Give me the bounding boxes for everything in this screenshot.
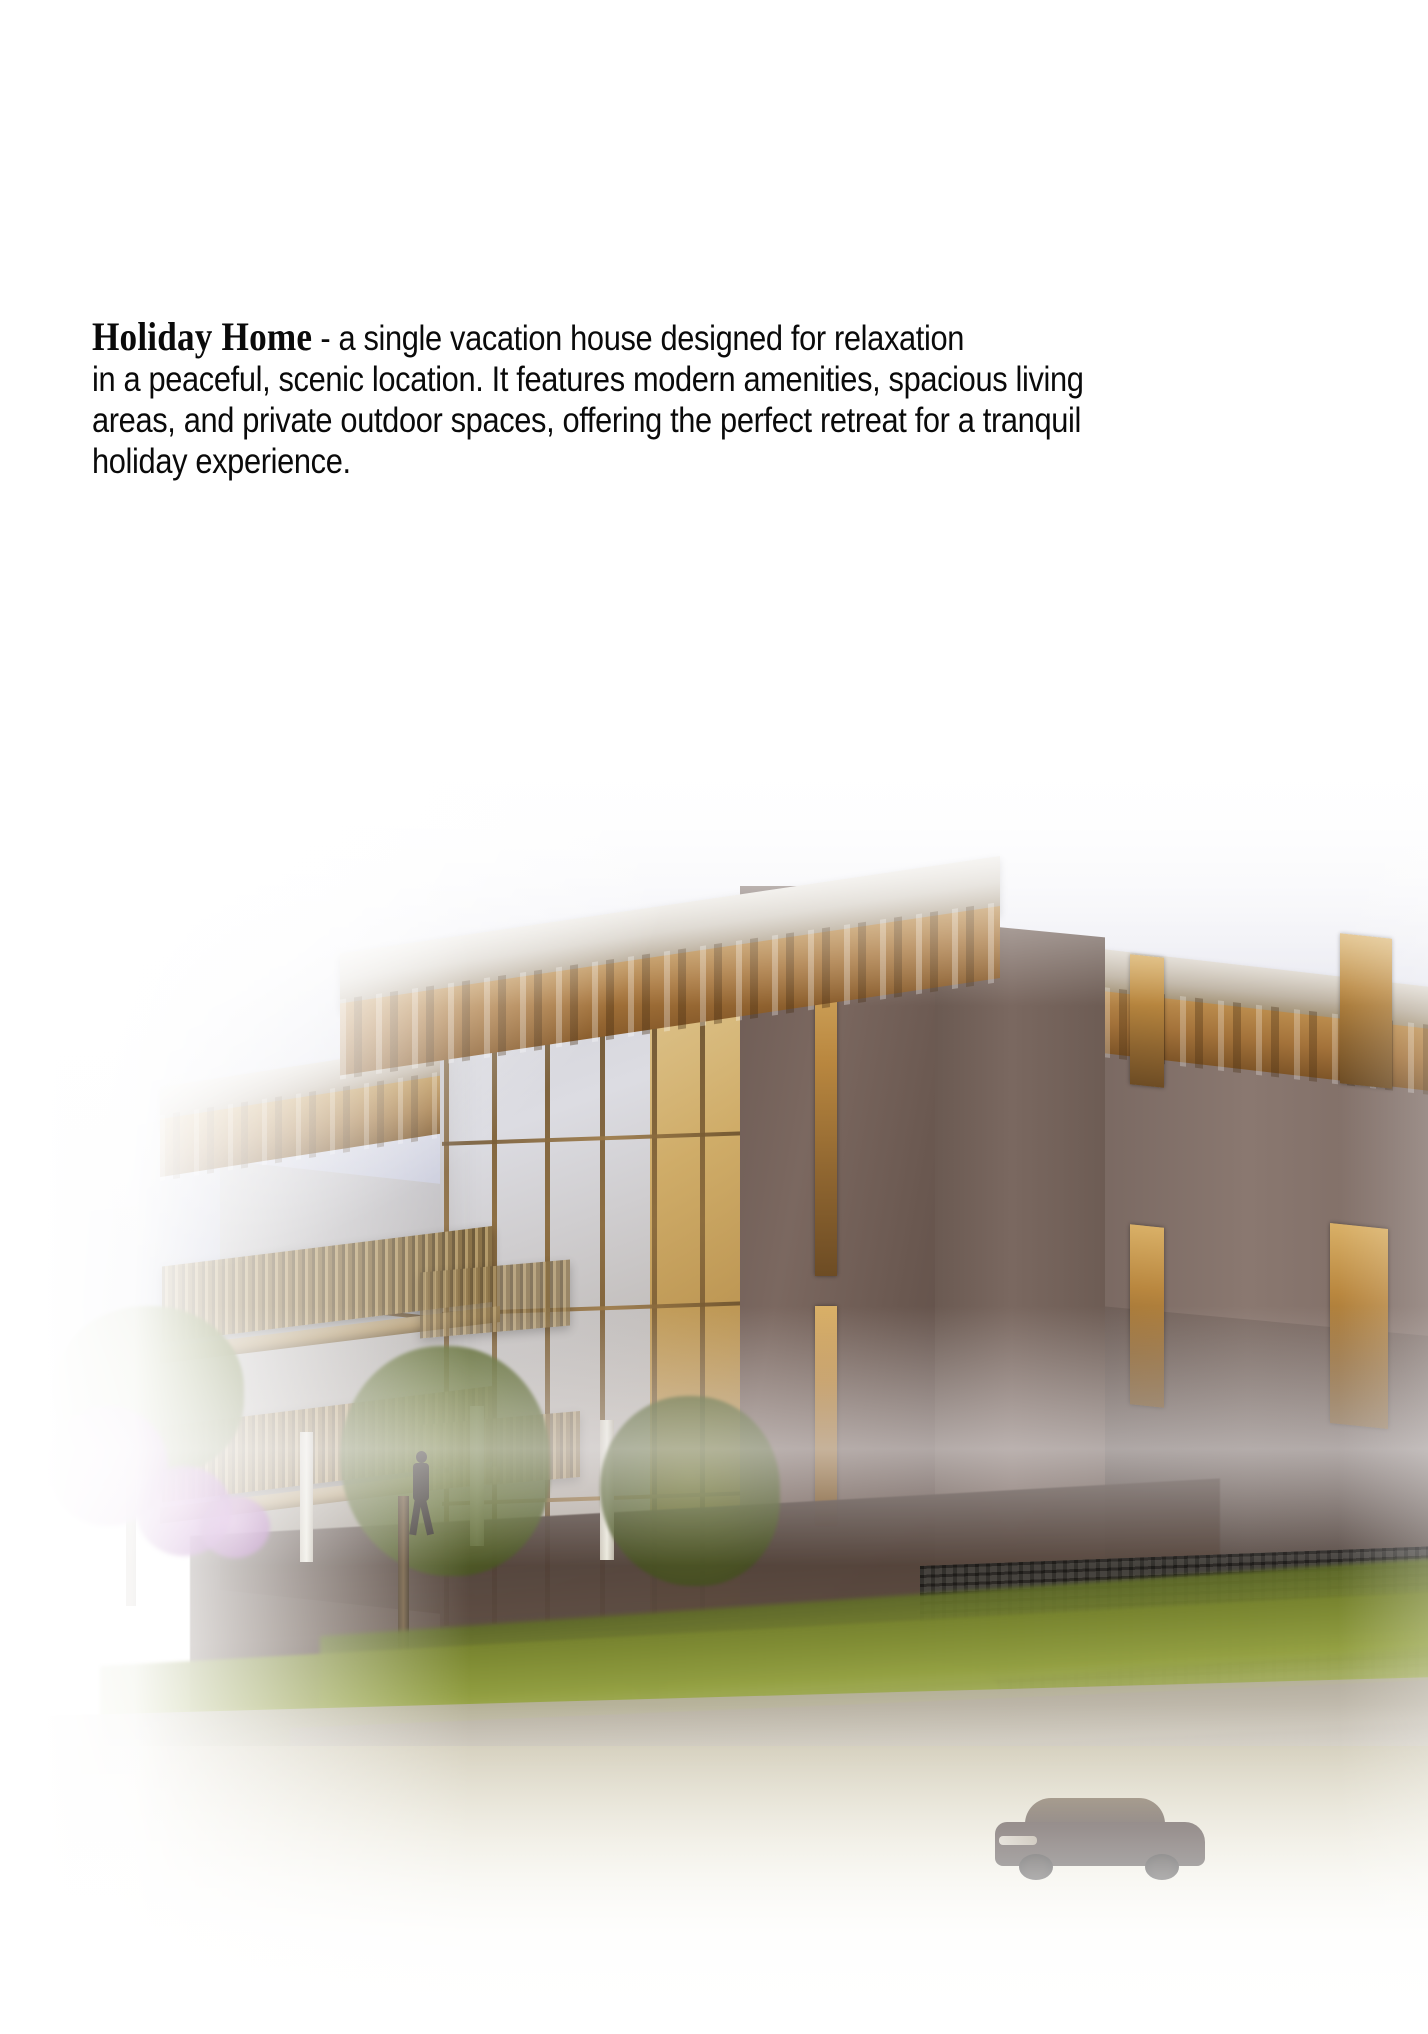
fade-bottom [40, 1704, 1428, 2034]
description-block: Holiday Home - a single vacation house d… [92, 316, 1428, 482]
render-canvas [40, 706, 1428, 2034]
fade-corner [40, 706, 680, 1266]
page-title: Holiday Home [92, 316, 312, 357]
description-line-3: areas, and private outdoor spaces, offer… [92, 400, 1324, 441]
architectural-rendering [40, 706, 1428, 2034]
description-line-1: Holiday Home - a single vacation house d… [92, 316, 1324, 359]
fade-right [1338, 706, 1428, 2034]
description-line-4: holiday experience. [92, 441, 1324, 482]
description-line-1-text: - a single vacation house designed for r… [312, 319, 964, 358]
description-line-2: in a peaceful, scenic location. It featu… [92, 359, 1324, 400]
